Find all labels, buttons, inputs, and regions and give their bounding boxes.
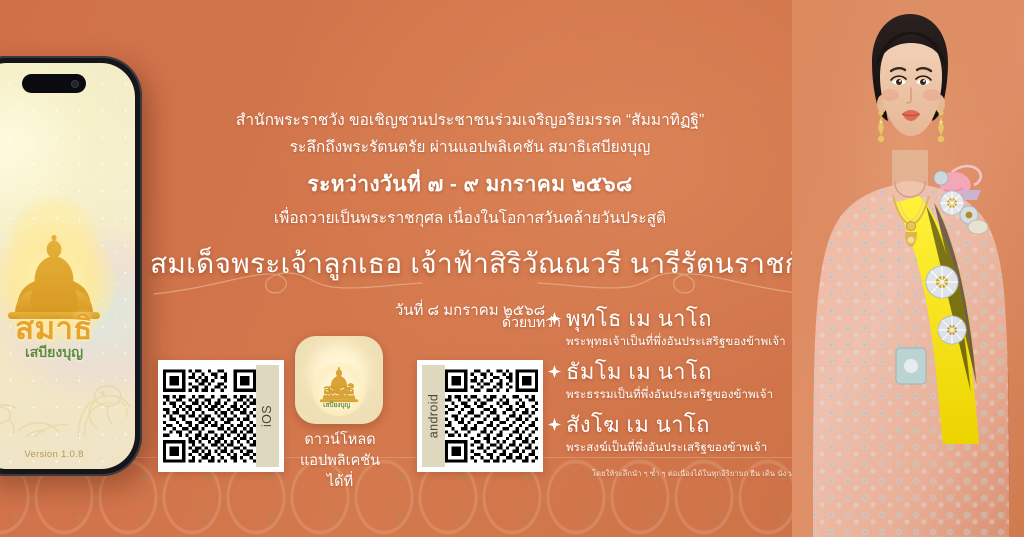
download-caption-line-2: แอปพลิเคชันได้ที่ [290, 451, 390, 493]
qr-code-ios[interactable]: iOS [158, 360, 284, 472]
mantra-item: ธัมโม เม นาโถ พระธรรมเป็นที่พึ่งอันประเส… [500, 359, 820, 404]
mantra-section: ด้วยบทว่า พุทโธ เม นาโถ พระพุทธเจ้าเป็นท… [500, 306, 820, 465]
mantra-subtitle: พระสงฆ์เป็นที่พึ่งอันประเสริฐของข้าพเจ้า [566, 439, 820, 457]
mantra-item: พุทโธ เม นาโถ พระพุทธเจ้าเป็นที่พึ่งอันป… [500, 306, 820, 351]
diamond-sparkle-icon [548, 312, 561, 325]
app-icon-logo-main: สมาธิ [323, 382, 355, 397]
phone-screen: สมาธิ เสบียงบุญ [0, 63, 135, 469]
app-splash-logo: สมาธิ เสบียงบุญ [15, 313, 93, 359]
royal-title: สมเด็จพระเจ้าลูกเธอ เจ้าฟ้าสิริวัณณวรี น… [150, 242, 790, 286]
event-date-range: ระหว่างวันที่ ๗ - ๙ มกราคม ๒๕๖๘ [150, 168, 790, 201]
invitation-line-2: ระลึกถึงพระรัตนตรัย ผ่านแอปพลิเคชัน สมาธ… [150, 135, 790, 162]
mantra-title: ธัมโม เม นาโถ [566, 359, 820, 385]
download-caption: ดาวน์โหลด แอปพลิเคชันได้ที่ [290, 430, 390, 493]
qr-ios-label: iOS [260, 405, 274, 427]
royal-portrait-image [792, 0, 1024, 537]
qr-android-label: android [427, 394, 441, 439]
qr-android-label-strip: android [422, 365, 445, 467]
phone-mockup: สมาธิ เสบียงบุญ [0, 56, 142, 476]
phone-frame: สมาธิ เสบียงบุญ [0, 56, 142, 476]
dynamic-island [22, 74, 86, 93]
headline-block: สำนักพระราชวัง ขอเชิญชวนประชาชนร่วมเจริญ… [150, 108, 790, 322]
invitation-line-1: สำนักพระราชวัง ขอเชิญชวนประชาชนร่วมเจริญ… [150, 108, 790, 135]
mantra-item: สังโฆ เม นาโถ พระสงฆ์เป็นที่พึ่งอันประเส… [500, 412, 820, 457]
royal-portrait [792, 0, 1024, 537]
download-section: iOS สมาธิ เสบียงบุญ ดาวน์โหลด แอปพลิเคชั… [150, 334, 550, 484]
qr-code-ios-image [163, 365, 256, 467]
mantra-title: พุทโธ เม นาโถ [566, 306, 820, 332]
mantra-footnote: โดยให้ระลึกนำ ๆ ซ้ำ ๆ ต่อเนื่องได้ในทุกอ… [592, 468, 812, 480]
campaign-banner: สมาธิ เสบียงบุญ [0, 0, 1024, 537]
diamond-sparkle-icon [548, 365, 561, 378]
mantra-title: สังโฆ เม นาโถ [566, 412, 820, 438]
download-caption-line-1: ดาวน์โหลด [290, 430, 390, 451]
app-icon-logo-text: สมาธิ เสบียงบุญ [323, 379, 355, 410]
dedication-line: เพื่อถวายเป็นพระราชกุศล เนื่องในโอกาสวัน… [150, 206, 790, 233]
mantra-subtitle: พระพุทธเจ้าเป็นที่พึ่งอันประเสริฐของข้าพ… [566, 333, 820, 351]
app-icon[interactable]: สมาธิ เสบียงบุญ [295, 336, 383, 424]
app-logo-main-text: สมาธิ [15, 313, 93, 344]
diamond-sparkle-icon [548, 418, 561, 431]
qr-ios-label-strip: iOS [256, 365, 279, 467]
app-icon-logo-sub: เสบียงบุญ [323, 400, 355, 410]
app-logo-sub-text: เสบียงบุญ [15, 345, 93, 359]
mantra-subtitle: พระธรรมเป็นที่พึ่งอันประเสริฐของข้าพเจ้า [566, 386, 820, 404]
app-version-label: Version 1.0.8 [0, 449, 135, 460]
